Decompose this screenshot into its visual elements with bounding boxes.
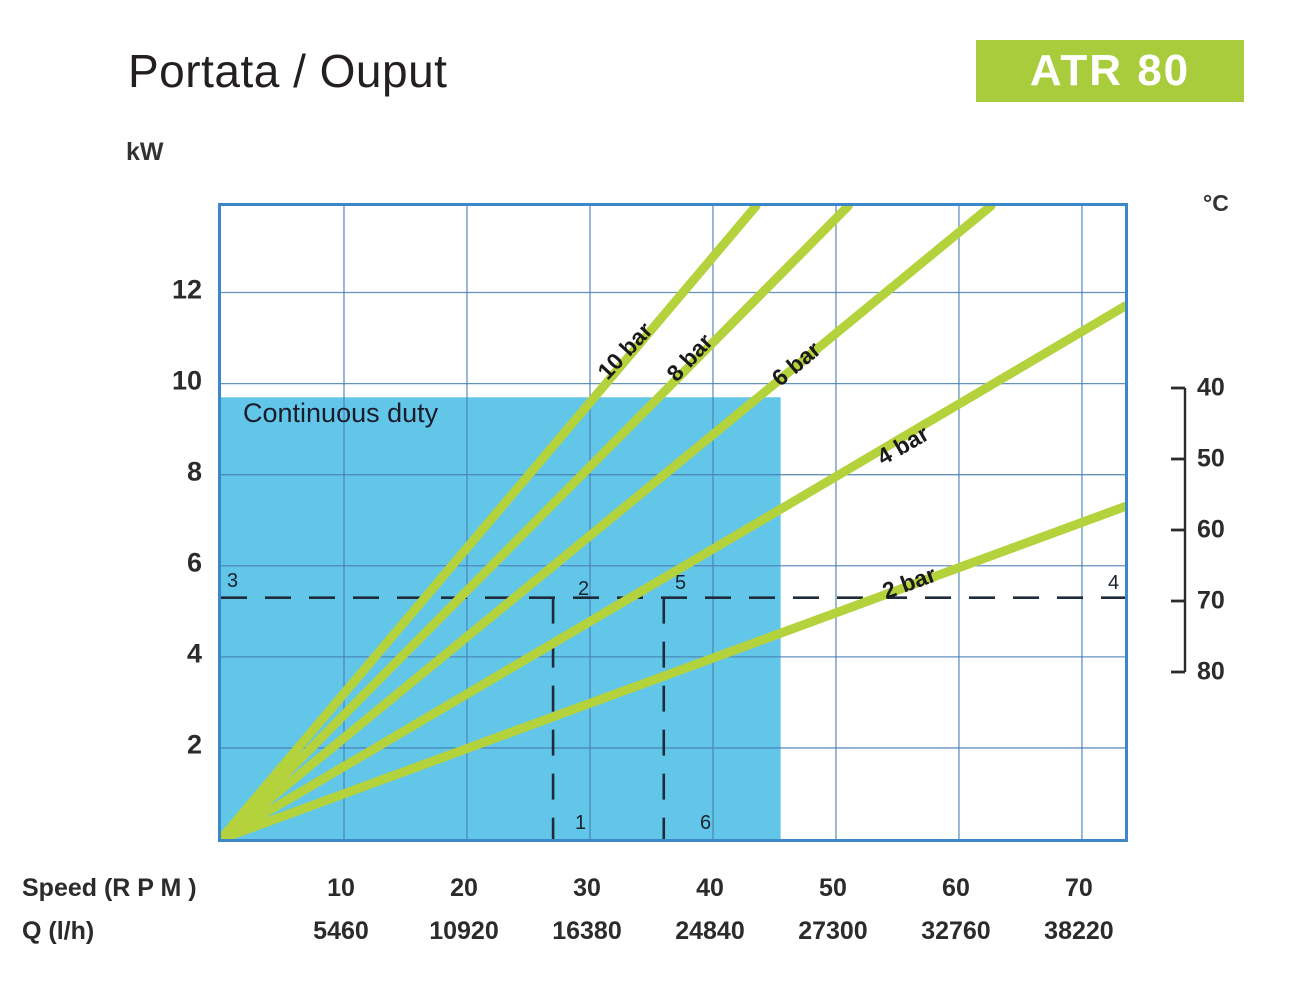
y2-axis-tick-label: 40 <box>1197 374 1225 403</box>
plot-marker-1: 1 <box>575 812 586 835</box>
y-axis-tick-label: 8 <box>142 456 202 487</box>
y2-axis-temperature-scale: 4050607080 <box>1155 0 1295 1000</box>
y2-axis-tick-label: 60 <box>1197 516 1225 545</box>
y-axis-tick-label: 6 <box>142 547 202 578</box>
x-axis-speed-value: 70 <box>999 874 1159 903</box>
plot-marker-3: 3 <box>227 570 238 593</box>
y-axis-tick-label: 10 <box>142 365 202 396</box>
y2-axis-tick-label: 70 <box>1197 587 1225 616</box>
continuous-duty-label: Continuous duty <box>243 398 438 429</box>
plot-marker-4: 4 <box>1108 572 1119 595</box>
chart-page: Portata / Ouput ATR 80 kW °C 24681012 40… <box>0 0 1314 1000</box>
temperature-ruler <box>1155 0 1195 1000</box>
y-axis-tick-label: 2 <box>142 729 202 760</box>
chart-canvas <box>221 206 1125 839</box>
x-axis-flow-value: 38220 <box>999 917 1159 946</box>
plot-marker-6: 6 <box>700 812 711 835</box>
y-axis-ticks: 24681012 <box>140 0 202 1000</box>
plot-marker-2: 2 <box>578 578 589 601</box>
y2-axis-tick-label: 50 <box>1197 445 1225 474</box>
y-axis-tick-label: 4 <box>142 638 202 669</box>
x-axis-speed-label: Speed (R P M ) <box>22 874 197 903</box>
y2-axis-tick-label: 80 <box>1197 658 1225 687</box>
plot-marker-5: 5 <box>675 572 686 595</box>
x-axis-flow-label: Q (l/h) <box>22 917 94 946</box>
y-axis-tick-label: 12 <box>142 274 202 305</box>
plot-area <box>218 203 1128 842</box>
